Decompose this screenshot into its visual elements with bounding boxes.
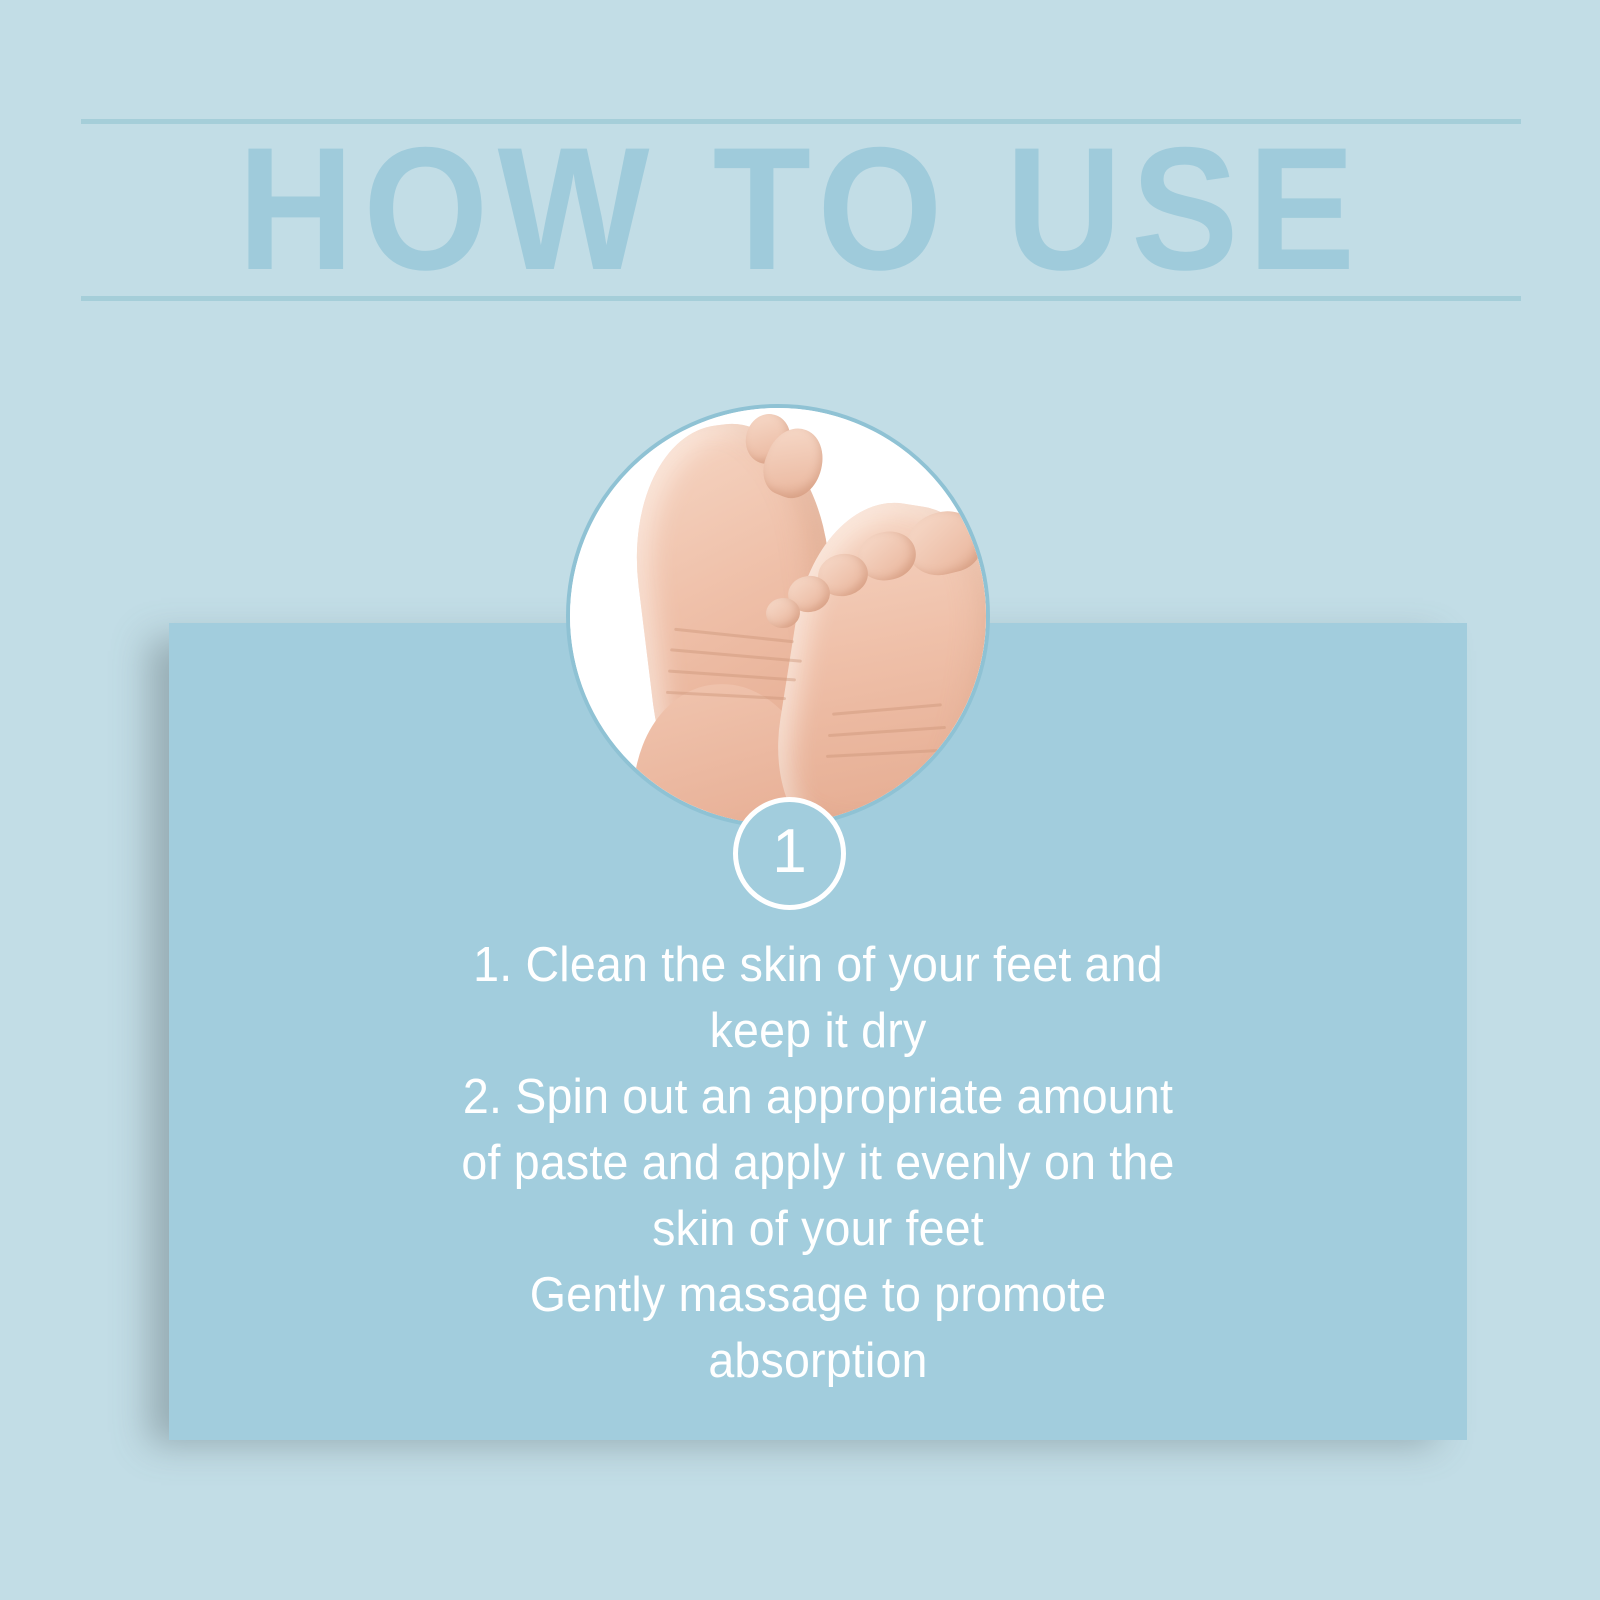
- header-block: HOW TO USE: [81, 119, 1521, 301]
- instruction-line: 2. Spin out an appropriate amount: [354, 1064, 1281, 1130]
- page-title: HOW TO USE: [139, 125, 1464, 295]
- instruction-line: of paste and apply it evenly on the: [354, 1130, 1281, 1196]
- step-photo-circle: [566, 404, 990, 828]
- how-to-use-poster: HOW TO USE 1 1: [0, 0, 1600, 1600]
- instruction-line: Gently massage to promote: [354, 1262, 1281, 1328]
- instruction-line: skin of your feet: [354, 1196, 1281, 1262]
- step-number-label: 1: [772, 821, 806, 883]
- instruction-line: absorption: [354, 1328, 1281, 1394]
- feet-photo: [570, 408, 986, 824]
- step-number-badge: 1: [733, 797, 846, 910]
- instruction-line: keep it dry: [354, 998, 1281, 1064]
- instructions-block: 1. Clean the skin of your feet and keep …: [330, 932, 1306, 1394]
- title-rule-bottom: [81, 296, 1521, 301]
- instruction-line: 1. Clean the skin of your feet and: [354, 932, 1281, 998]
